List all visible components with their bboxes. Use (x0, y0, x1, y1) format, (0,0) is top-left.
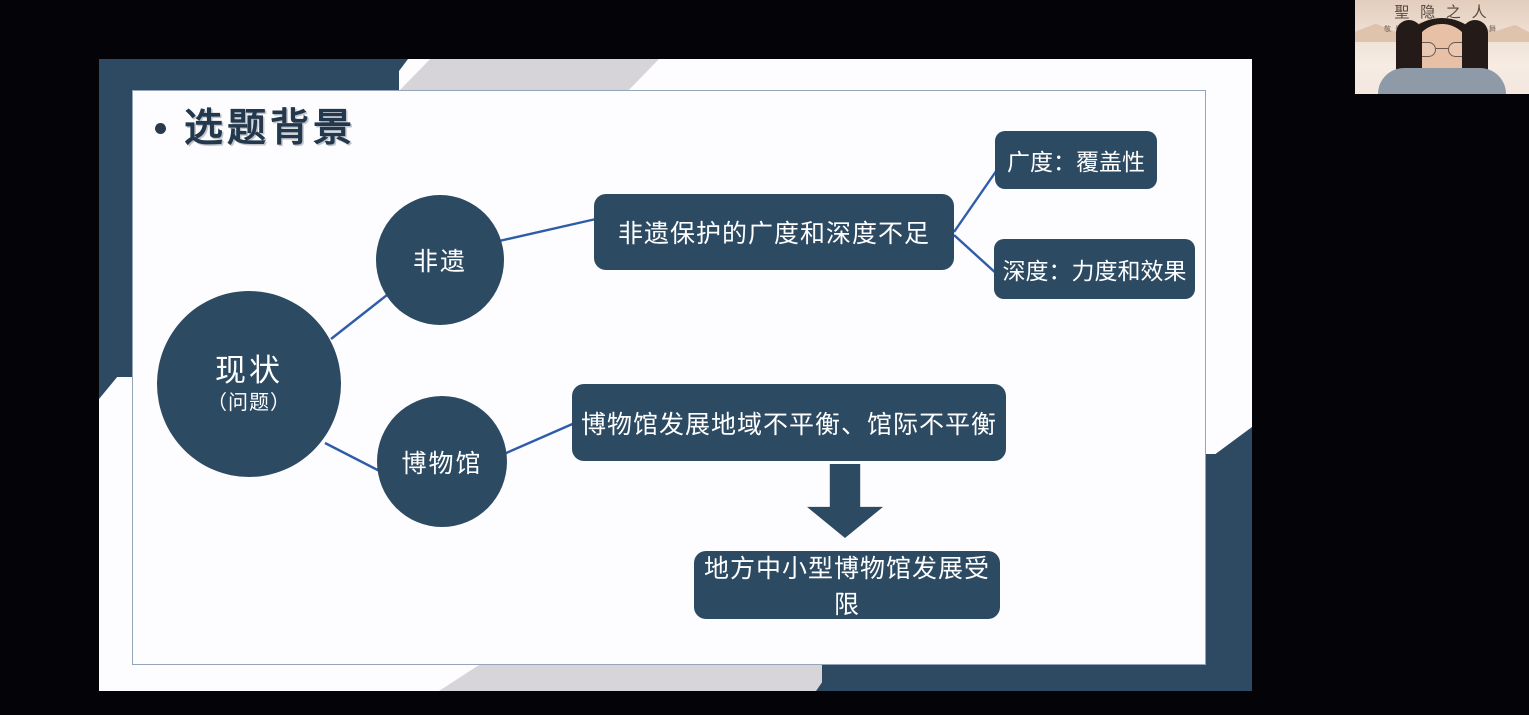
node-feiyi[interactable]: 非遗 (376, 195, 504, 325)
presenter-video-feed[interactable]: 聖 隐 之 人 敬畏及收之品质 齊映舞 (1355, 0, 1529, 94)
node-museum-issue-label: 博物馆发展地域不平衡、馆际不平衡 (581, 405, 997, 441)
node-museum-issue[interactable]: 博物馆发展地域不平衡、馆际不平衡 (572, 384, 1006, 461)
node-museum-label: 博物馆 (401, 444, 482, 480)
node-museum[interactable]: 博物馆 (377, 396, 507, 527)
node-feiyi-label: 非遗 (413, 242, 467, 278)
concept-diagram: 现状 （问题） 非遗 博物馆 非遗保护的广度和深度不足 广度：覆盖性 深度：力度… (99, 59, 1252, 691)
screen-root: 选题背景 现状 （问题） 非遗 (0, 0, 1529, 715)
node-feiyi-issue-label: 非遗保护的广度和深度不足 (618, 214, 930, 250)
connector-issue-to-guangdu (954, 167, 999, 232)
node-feiyi-issue[interactable]: 非遗保护的广度和深度不足 (594, 194, 954, 270)
presentation-slide: 选题背景 现状 （问题） 非遗 (99, 59, 1252, 691)
node-depth[interactable]: 深度：力度和效果 (994, 239, 1195, 299)
node-depth-label: 深度：力度和效果 (1003, 252, 1187, 286)
glasses-bridge (1436, 48, 1448, 49)
node-current-situation-secondary: （问题） (207, 392, 291, 414)
node-current-situation[interactable]: 现状 （问题） (157, 291, 341, 477)
node-result[interactable]: 地方中小型博物馆发展受限 (694, 551, 1000, 619)
connector-feiyi-to-issue (499, 219, 596, 241)
connector-museum-to-issue (504, 422, 577, 454)
node-result-label: 地方中小型博物馆发展受限 (694, 549, 1000, 621)
connector-main-to-feiyi (331, 295, 387, 339)
node-breadth[interactable]: 广度：覆盖性 (995, 131, 1157, 189)
glasses-icon (1415, 42, 1469, 57)
node-current-situation-primary: 现状 (215, 354, 283, 389)
connector-issue-to-shendu (954, 235, 998, 275)
presenter-shoulders (1378, 68, 1506, 94)
node-breadth-label: 广度：覆盖性 (1007, 143, 1145, 177)
